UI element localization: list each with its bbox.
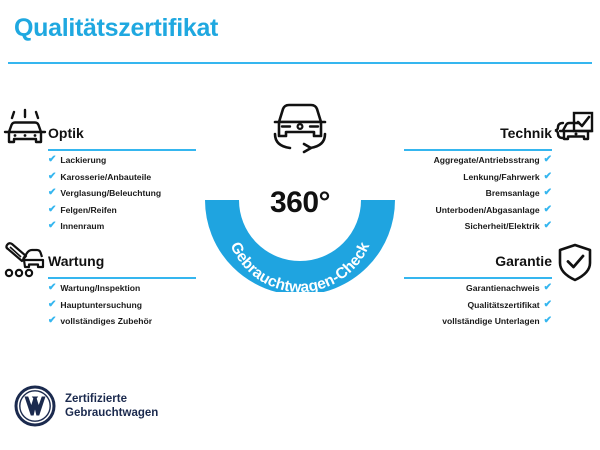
check-icon: ✔	[48, 316, 56, 326]
list-item-label: Unterboden/Abgasanlage	[436, 202, 540, 219]
list-item: vollständige Unterlagen ✔	[404, 313, 552, 330]
section-optik: Optik ✔ Lackierung ✔ Karosserie/Anbautei…	[48, 124, 196, 235]
section-garantie-header: Garantie	[404, 252, 552, 280]
section-wartung: Wartung ✔ Wartung/Inspektion ✔ Hauptunte…	[48, 252, 196, 330]
list-item-label: vollständige Unterlagen	[442, 313, 539, 330]
section-garantie: Garantie Garantienachweis ✔ Qualitätszer…	[404, 252, 552, 330]
check-icon: ✔	[544, 300, 552, 310]
list-item-label: vollständiges Zubehör	[60, 313, 152, 330]
section-garantie-list: Garantienachweis ✔ Qualitätszertifikat ✔…	[404, 280, 552, 330]
check-icon: ✔	[48, 300, 56, 310]
check-icon: ✔	[48, 172, 56, 182]
list-item-label: Garantienachweis	[466, 280, 540, 297]
section-optik-title: Optik	[48, 124, 196, 142]
car-checkbox-icon	[550, 106, 596, 152]
check-icon: ✔	[544, 316, 552, 326]
list-item-label: Innenraum	[60, 218, 104, 235]
list-item: Aggregate/Antriebsstrang ✔	[404, 152, 552, 169]
page-title: Qualitätszertifikat	[14, 14, 218, 43]
check-icon: ✔	[48, 155, 56, 165]
list-item: Unterboden/Abgasanlage ✔	[404, 202, 552, 219]
section-optik-list: ✔ Lackierung ✔ Karosserie/Anbauteile ✔ V…	[48, 152, 196, 235]
list-item: ✔ Felgen/Reifen	[48, 202, 196, 219]
list-item: ✔ Innenraum	[48, 218, 196, 235]
footer-brand-line1: Zertifizierte	[65, 392, 158, 407]
section-optik-rule	[48, 149, 196, 151]
list-item-label: Bremsanlage	[486, 185, 540, 202]
list-item: ✔ vollständiges Zubehör	[48, 313, 196, 330]
list-item-label: Lenkung/Fahrwerk	[463, 169, 539, 186]
check-icon: ✔	[48, 205, 56, 215]
list-item-label: Verglasung/Beleuchtung	[60, 185, 161, 202]
check-icon: ✔	[48, 221, 56, 231]
check-icon: ✔	[544, 155, 552, 165]
footer-brand: Zertifizierte Gebrauchtwagen	[14, 385, 158, 427]
shield-check-icon	[552, 240, 598, 286]
list-item: Sicherheit/Elektrik ✔	[404, 218, 552, 235]
list-item-label: Hauptuntersuchung	[60, 297, 142, 314]
list-item-label: Karosserie/Anbauteile	[60, 169, 151, 186]
check-icon: ✔	[48, 283, 56, 293]
section-technik-header: Technik	[404, 124, 552, 152]
check-icon: ✔	[544, 283, 552, 293]
section-technik-rule	[404, 149, 552, 151]
section-technik: Technik Aggregate/Antriebsstrang ✔ Lenku…	[404, 124, 552, 235]
list-item: ✔ Karosserie/Anbauteile	[48, 169, 196, 186]
check-icon: ✔	[544, 205, 552, 215]
section-wartung-list: ✔ Wartung/Inspektion ✔ Hauptuntersuchung…	[48, 280, 196, 330]
list-item-label: Lackierung	[60, 152, 106, 169]
vw-logo-icon	[14, 385, 56, 427]
badge-ring: Gebrauchtwagen-Check	[205, 142, 395, 292]
list-item: ✔ Hauptuntersuchung	[48, 297, 196, 314]
list-item-label: Aggregate/Antriebsstrang	[434, 152, 540, 169]
section-wartung-header: Wartung	[48, 252, 196, 280]
check-icon: ✔	[48, 188, 56, 198]
certificate-canvas: Qualitätszertifikat Optik ✔ Lackierung	[0, 0, 600, 450]
section-garantie-rule	[404, 277, 552, 279]
section-technik-list: Aggregate/Antriebsstrang ✔ Lenkung/Fahrw…	[404, 152, 552, 235]
check-icon: ✔	[544, 221, 552, 231]
section-optik-header: Optik	[48, 124, 196, 152]
section-wartung-title: Wartung	[48, 252, 196, 270]
list-item-label: Sicherheit/Elektrik	[465, 218, 540, 235]
list-item-label: Wartung/Inspektion	[60, 280, 140, 297]
list-item: Qualitätszertifikat ✔	[404, 297, 552, 314]
badge-360-gebrauchtwagen-check: Gebrauchtwagen-Check 360°	[205, 96, 395, 292]
footer-brand-line2: Gebrauchtwagen	[65, 406, 158, 421]
list-item: ✔ Lackierung	[48, 152, 196, 169]
list-item: Lenkung/Fahrwerk ✔	[404, 169, 552, 186]
check-icon: ✔	[544, 172, 552, 182]
section-technik-title: Technik	[404, 124, 552, 142]
list-item: ✔ Verglasung/Beleuchtung	[48, 185, 196, 202]
list-item-label: Felgen/Reifen	[60, 202, 116, 219]
list-item: Bremsanlage ✔	[404, 185, 552, 202]
header-divider	[8, 62, 592, 64]
list-item-label: Qualitätszertifikat	[467, 297, 539, 314]
list-item: ✔ Wartung/Inspektion	[48, 280, 196, 297]
list-item: Garantienachweis ✔	[404, 280, 552, 297]
car-shine-icon	[2, 106, 48, 152]
section-wartung-rule	[48, 277, 196, 279]
footer-brand-text: Zertifizierte Gebrauchtwagen	[65, 392, 158, 421]
check-icon: ✔	[544, 188, 552, 198]
wrench-car-icon	[2, 236, 48, 282]
section-garantie-title: Garantie	[404, 252, 552, 270]
